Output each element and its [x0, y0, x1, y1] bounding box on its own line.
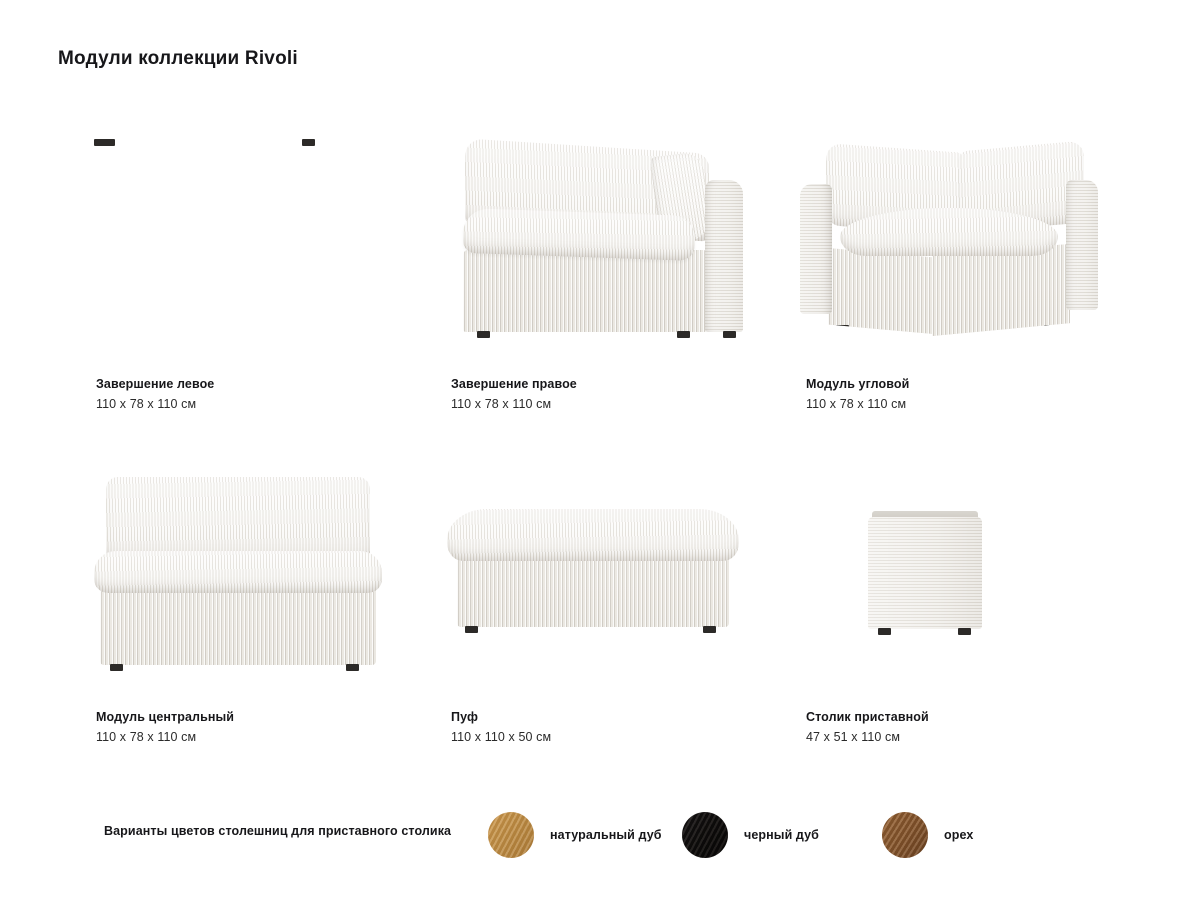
module-row: Завершение левое 110 x 78 x 110 см: [0, 140, 1200, 473]
module-card-side-table[interactable]: Столик приставной 47 x 51 x 110 см: [798, 473, 1153, 806]
ottoman-foot: [703, 626, 716, 633]
sofa-foot: [477, 331, 490, 338]
armrest-right: [705, 180, 743, 332]
ottoman-base: [457, 553, 729, 627]
module-name: Модуль центральный: [96, 709, 426, 726]
module-card-left-end[interactable]: Завершение левое 110 x 78 x 110 см: [88, 140, 443, 473]
finish-legend-label: Варианты цветов столешниц для приставног…: [104, 824, 451, 838]
module-dimensions: 110 x 110 x 50 см: [451, 729, 781, 746]
sofa-base: [100, 585, 376, 665]
module-name: Столик приставной: [806, 709, 1136, 726]
ottoman-top-cushion: [447, 509, 739, 561]
side-table-foot: [958, 628, 971, 635]
sofa-foot: [94, 139, 107, 146]
sofa-center-module-icon: [88, 473, 388, 688]
sofa-base-left-face: [828, 248, 934, 334]
module-caption: Модуль угловой 110 x 78 x 110 см: [806, 376, 1136, 413]
sofa-foot: [346, 664, 359, 671]
module-dimensions: 110 x 78 x 110 см: [96, 729, 426, 746]
sofa-right-end-module-icon: [443, 140, 743, 355]
seat-cushion: [463, 208, 695, 261]
module-row: Модуль центральный 110 x 78 x 110 см Пуф…: [0, 473, 1200, 806]
swatch-label: черный дуб: [744, 828, 819, 842]
sofa-foot: [1044, 325, 1057, 332]
module-grid: Завершение левое 110 x 78 x 110 см: [0, 140, 1200, 806]
module-name: Модуль угловой: [806, 376, 1136, 393]
module-dimensions: 47 x 51 x 110 см: [806, 729, 1136, 746]
module-card-center[interactable]: Модуль центральный 110 x 78 x 110 см: [88, 473, 443, 806]
armrest-right: [1066, 180, 1098, 310]
seat-cushion: [94, 551, 382, 593]
finish-legend: Варианты цветов столешниц для приставног…: [0, 805, 1200, 865]
sofa-foot: [110, 664, 123, 671]
module-name: Пуф: [451, 709, 781, 726]
armrest-left: [800, 184, 832, 314]
module-card-right-end[interactable]: Завершение правое 110 x 78 x 110 см: [443, 140, 798, 473]
ottoman-icon: [443, 473, 743, 688]
module-name: Завершение левое: [96, 376, 426, 393]
module-caption: Завершение правое 110 x 78 x 110 см: [451, 376, 781, 413]
side-table-body: [868, 517, 982, 629]
module-dimensions: 110 x 78 x 110 см: [96, 396, 426, 413]
sofa-foot: [677, 331, 690, 338]
sofa-foot: [836, 325, 849, 332]
sofa-left-end-module-icon: [88, 140, 388, 355]
sofa-foot: [723, 331, 736, 338]
module-card-ottoman[interactable]: Пуф 110 x 110 x 50 см: [443, 473, 798, 806]
swatch-label: натуральный дуб: [550, 828, 662, 842]
page-title: Модули коллекции Rivoli: [58, 48, 298, 70]
sofa-foot: [302, 139, 315, 146]
module-caption: Столик приставной 47 x 51 x 110 см: [806, 709, 1136, 746]
seat-cushion: [840, 208, 1058, 256]
side-table-foot: [878, 628, 891, 635]
sofa-base: [463, 250, 707, 332]
ottoman-foot: [465, 626, 478, 633]
swatch-walnut-icon[interactable]: [882, 812, 928, 858]
module-name: Завершение правое: [451, 376, 781, 393]
side-table-icon: [798, 473, 1098, 688]
catalog-page: Модули коллекции Rivoli: [0, 0, 1200, 900]
swatch-natural-oak-icon[interactable]: [488, 812, 534, 858]
swatch-black-oak-icon[interactable]: [682, 812, 728, 858]
module-dimensions: 110 x 78 x 110 см: [451, 396, 781, 413]
module-caption: Модуль центральный 110 x 78 x 110 см: [96, 709, 426, 746]
sofa-corner-module-icon: [798, 140, 1098, 355]
module-caption: Пуф 110 x 110 x 50 см: [451, 709, 781, 746]
swatch-label: орех: [944, 828, 973, 842]
module-caption: Завершение левое 110 x 78 x 110 см: [96, 376, 426, 413]
sofa-base-right-face: [932, 244, 1070, 336]
module-dimensions: 110 x 78 x 110 см: [806, 396, 1136, 413]
module-card-corner[interactable]: Модуль угловой 110 x 78 x 110 см: [798, 140, 1153, 473]
